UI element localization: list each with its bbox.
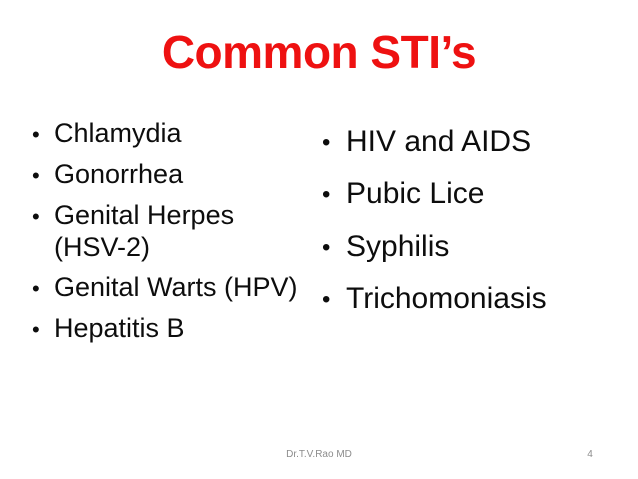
list-item-label: Hepatitis B (54, 313, 302, 345)
bullet-point-icon: • (32, 165, 54, 187)
list-item: • Gonorrhea (32, 159, 302, 191)
page-title: Common STI’s (0, 27, 638, 78)
bullet-list-left: • Chlamydia • Gonorrhea • Genital Herpes… (32, 118, 302, 354)
list-item: • Pubic Lice (322, 176, 622, 211)
bullet-point-icon: • (32, 124, 54, 146)
bullet-list-right: • HIV and AIDS • Pubic Lice • Syphilis •… (322, 124, 622, 334)
list-item: • HIV and AIDS (322, 124, 622, 159)
bullet-point-icon: • (322, 236, 346, 260)
bullet-point-icon: • (322, 131, 346, 155)
list-item-label: Genital Herpes (HSV-2) (54, 200, 302, 264)
list-item-label: Pubic Lice (346, 176, 622, 211)
slide-canvas: Common STI’s • Chlamydia • Gonorrhea • G… (0, 0, 638, 479)
list-item-label: Genital Warts (HPV) (54, 272, 302, 304)
list-item-label: Trichomoniasis (346, 281, 622, 316)
list-item-label: HIV and AIDS (346, 124, 622, 159)
list-item-label: Gonorrhea (54, 159, 302, 191)
list-item: • Genital Warts (HPV) (32, 272, 302, 304)
bullet-point-icon: • (32, 206, 54, 228)
list-item: • Chlamydia (32, 118, 302, 150)
page-number: 4 (560, 449, 620, 460)
list-item: • Hepatitis B (32, 313, 302, 345)
list-item-label: Syphilis (346, 229, 622, 264)
list-item: • Trichomoniasis (322, 281, 622, 316)
list-item: • Syphilis (322, 229, 622, 264)
bullet-point-icon: • (32, 319, 54, 341)
bullet-point-icon: • (32, 278, 54, 300)
footer-credit: Dr.T.V.Rao MD (0, 449, 638, 460)
bullet-point-icon: • (322, 183, 346, 207)
bullet-point-icon: • (322, 288, 346, 312)
list-item: • Genital Herpes (HSV-2) (32, 200, 302, 264)
list-item-label: Chlamydia (54, 118, 302, 150)
